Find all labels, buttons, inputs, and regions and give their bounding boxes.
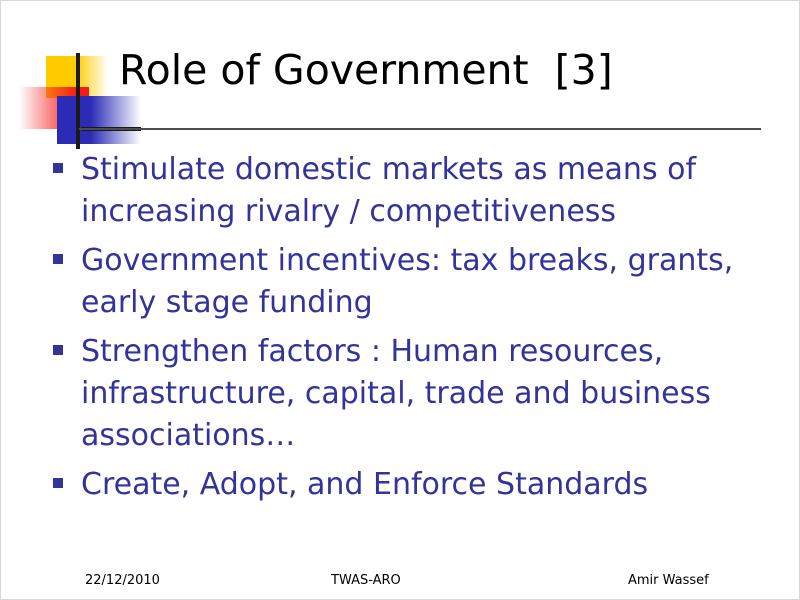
logo-blue-square-icon	[57, 96, 141, 144]
slide-canvas: Role of Government [3] Stimulate domesti…	[0, 0, 800, 600]
square-bullet-icon	[53, 163, 63, 173]
logo-vertical-bar-icon	[76, 53, 80, 149]
list-item: Stimulate domestic markets as means of i…	[47, 149, 767, 233]
footer-author: Amir Wassef	[628, 572, 709, 589]
footer-date: 22/12/2010	[85, 572, 160, 589]
list-item-label: Stimulate domestic markets as means of i…	[81, 149, 767, 233]
list-item: Strengthen factors : Human resources, in…	[47, 331, 767, 457]
footer-organization: TWAS-ARO	[331, 572, 401, 589]
slide-title: Role of Government [3]	[119, 45, 613, 95]
list-item: Government incentives: tax breaks, grant…	[47, 240, 767, 324]
list-item-label: Create, Adopt, and Enforce Standards	[81, 464, 767, 506]
square-bullet-icon	[53, 254, 63, 264]
list-item-label: Government incentives: tax breaks, grant…	[81, 240, 767, 324]
title-divider-rule	[79, 128, 761, 130]
list-item-label: Strengthen factors : Human resources, in…	[81, 331, 767, 457]
square-bullet-icon	[53, 478, 63, 488]
slide-body-list: Stimulate domestic markets as means of i…	[47, 149, 767, 513]
list-item: Create, Adopt, and Enforce Standards	[47, 464, 767, 506]
square-bullet-icon	[53, 345, 63, 355]
